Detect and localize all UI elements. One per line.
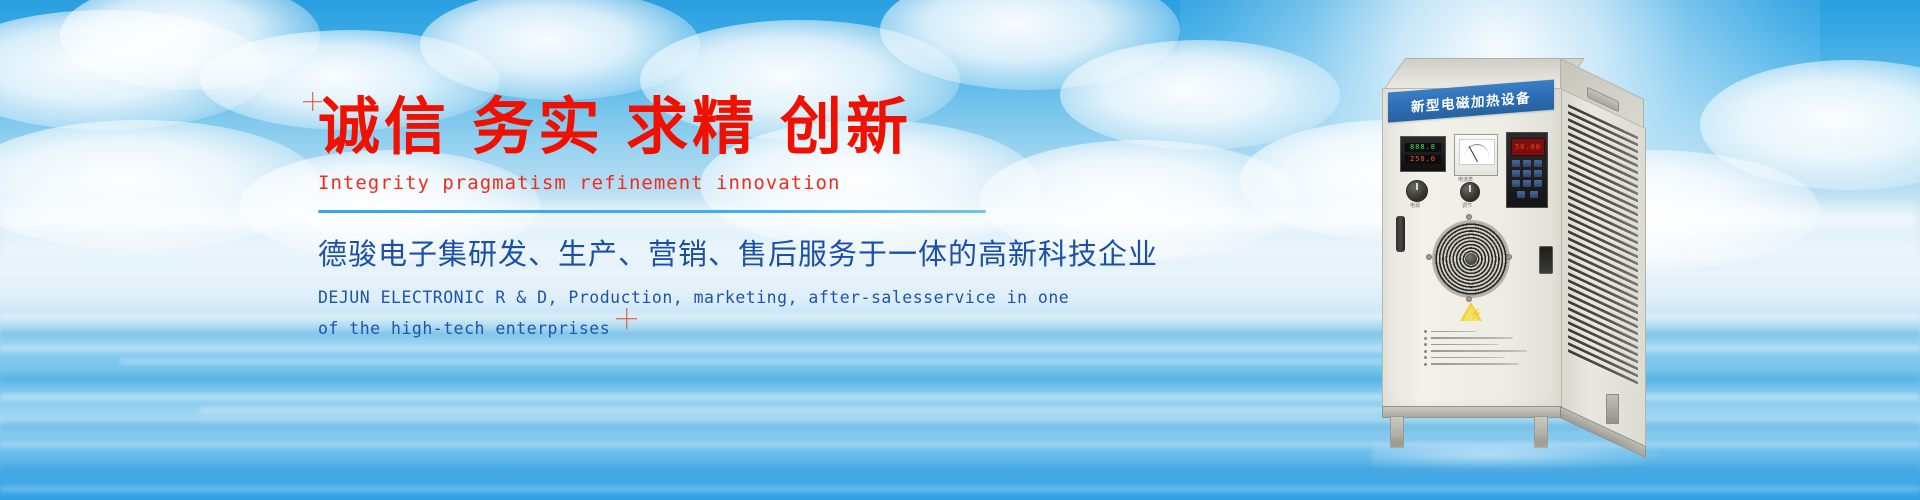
- digital-meter: 888.8 250.0: [1400, 136, 1446, 172]
- fan-hub: [1465, 253, 1477, 265]
- machine-reflection: [1372, 444, 1662, 470]
- cloud-puff: [1060, 40, 1340, 150]
- machine-leg-left: [1390, 416, 1404, 448]
- divider-line: [318, 210, 986, 213]
- machine-ventilation-louvers: [1568, 104, 1638, 407]
- headline-word-2: 务实: [472, 90, 604, 163]
- tagline-english-line-1: DEJUN ELECTRONIC R & D, Production, mark…: [318, 283, 1038, 314]
- tagline-english: DEJUN ELECTRONIC R & D, Production, mark…: [318, 283, 1038, 344]
- tagline-english-line-2: of the high-tech enterprises: [318, 314, 1038, 345]
- keypad-key: [1512, 160, 1520, 167]
- keypad-key: [1523, 160, 1531, 167]
- power-knob-indicator: [1416, 183, 1418, 190]
- analog-meter: [1454, 134, 1498, 176]
- fan-screw: [1426, 254, 1432, 260]
- keypad-key: [1523, 180, 1531, 187]
- headline-word-3: 求精: [626, 90, 758, 163]
- cloud-puff: [0, 120, 320, 250]
- digital-meter-bottom-value: 250.0: [1405, 155, 1441, 164]
- keypad-key: [1534, 180, 1542, 187]
- cloud-puff: [60, 0, 320, 90]
- keypad-key: [1534, 160, 1542, 167]
- banner-text-block: 诚信务实求精创新 Integrity pragmatism refinement…: [318, 96, 1038, 344]
- machine-side-port: [1539, 246, 1553, 274]
- sea-streak: [0, 484, 1920, 494]
- control-keypad-panel: 50.00: [1506, 132, 1548, 208]
- cloud-puff: [1700, 60, 1920, 190]
- analog-meter-face: [1459, 139, 1495, 165]
- cloud-puff: [420, 0, 700, 100]
- headline-english: Integrity pragmatism refinement innovati…: [318, 172, 1038, 194]
- keypad-display-value: 50.00: [1512, 139, 1544, 155]
- keypad-key: [1523, 170, 1531, 177]
- headline-word-4: 创新: [780, 90, 912, 163]
- fan-grille: [1432, 220, 1510, 298]
- adjust-knob-label: 调节: [1462, 202, 1472, 209]
- power-knob-label: 电源: [1410, 202, 1420, 209]
- machine-spec-label: [1424, 330, 1536, 369]
- machine-title-text: 新型电磁加热设备: [1411, 86, 1531, 115]
- machine-leg-right: [1534, 416, 1548, 448]
- cloud-puff: [880, 0, 1180, 90]
- product-machine: 新型电磁加热设备 888.8 250.0 50.00: [1382, 58, 1692, 458]
- keypad-buttons: [1512, 160, 1542, 202]
- power-knob: [1406, 180, 1428, 202]
- fan-screw: [1466, 214, 1472, 220]
- promo-banner: 诚信务实求精创新 Integrity pragmatism refinement…: [0, 0, 1920, 500]
- analog-meter-label: 电流表: [1458, 176, 1473, 183]
- sea-shadow: [0, 462, 1920, 478]
- warning-bolt-icon: ⚡: [1470, 310, 1482, 320]
- keypad-key: [1517, 191, 1525, 198]
- machine-leg-back: [1606, 394, 1619, 424]
- machine-door-handle: [1396, 216, 1405, 252]
- keypad-display: 50.00: [1511, 138, 1545, 156]
- adjust-knob: [1460, 182, 1480, 202]
- tagline-chinese: 德骏电子集研发、生产、营销、售后服务于一体的高新科技企业: [318, 231, 1038, 273]
- keypad-key: [1530, 191, 1538, 198]
- adjust-knob-indicator: [1469, 185, 1471, 192]
- cloud-puff: [0, 10, 270, 130]
- fan-screw: [1506, 254, 1512, 260]
- keypad-key: [1512, 170, 1520, 177]
- headline-chinese: 诚信务实求精创新: [318, 96, 1038, 158]
- keypad-key: [1512, 180, 1520, 187]
- digital-meter-top-value: 888.8: [1405, 143, 1441, 152]
- keypad-key: [1534, 170, 1542, 177]
- headline-word-1: 诚信: [318, 90, 450, 163]
